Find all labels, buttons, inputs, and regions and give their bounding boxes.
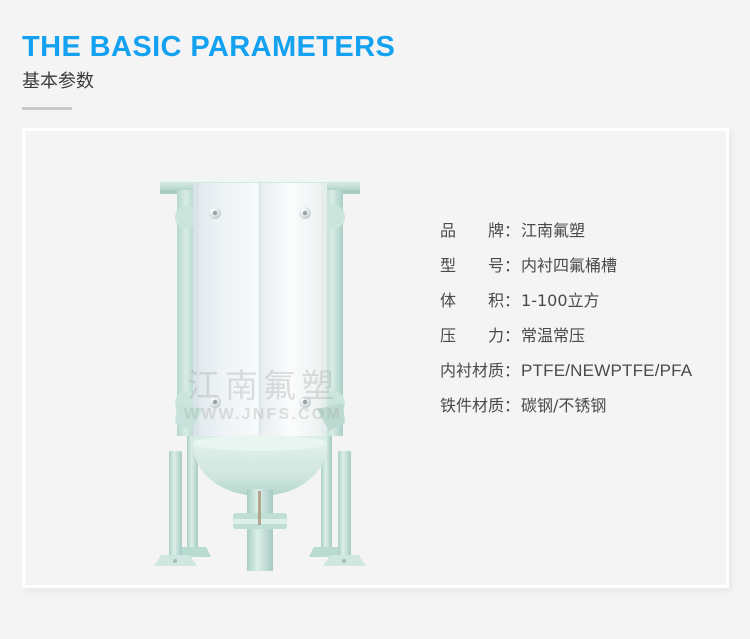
spec-value-brand: 江南氟塑	[521, 217, 585, 241]
lined-tank-illustration	[125, 151, 395, 571]
spec-value-hardware-material: 碳钢/不锈钢	[521, 392, 606, 416]
spec-label-hardware-material: 铁件材质：	[440, 392, 520, 416]
specification-list: 品 牌： 江南氟塑 型 号： 内衬四氟桶槽 体 积： 1-100立方 压 力： …	[440, 217, 725, 427]
spec-label-pressure: 压 力：	[440, 322, 520, 346]
spec-value-pressure: 常温常压	[521, 322, 585, 346]
spec-row-model: 型 号： 内衬四氟桶槽	[440, 252, 725, 287]
spec-label-lining-material: 内衬材质：	[440, 357, 520, 381]
spec-value-model: 内衬四氟桶槽	[521, 252, 617, 276]
spec-row-volume: 体 积： 1-100立方	[440, 287, 725, 322]
product-image: 江南氟塑 WWW.JNFS.COM	[125, 151, 395, 571]
tank-body	[193, 183, 327, 451]
spec-row-lining-material: 内衬材质： PTFE/NEWPTFE/PFA	[440, 357, 725, 392]
spec-row-brand: 品 牌： 江南氟塑	[440, 217, 725, 252]
page-title-chinese: 基本参数	[22, 73, 522, 91]
spec-value-lining-material: PTFE/NEWPTFE/PFA	[521, 361, 692, 381]
tank-drain-outlet	[233, 489, 287, 571]
tank-bottom-head	[193, 435, 327, 496]
page-root: THE BASIC PARAMETERS 基本参数	[0, 0, 750, 639]
page-header: THE BASIC PARAMETERS 基本参数	[22, 33, 522, 110]
spec-label-volume: 体 积：	[440, 287, 520, 311]
page-title-english: THE BASIC PARAMETERS	[22, 33, 522, 62]
spec-label-brand: 品 牌：	[440, 217, 520, 241]
spec-value-volume: 1-100立方	[521, 287, 600, 311]
spec-label-model: 型 号：	[440, 252, 520, 276]
spec-row-hardware-material: 铁件材质： 碳钢/不锈钢	[440, 392, 725, 427]
parameters-card: 江南氟塑 WWW.JNFS.COM 品 牌： 江南氟塑 型 号： 内衬四氟桶槽 …	[22, 128, 729, 588]
spec-row-pressure: 压 力： 常温常压	[440, 322, 725, 357]
title-divider	[22, 107, 72, 110]
